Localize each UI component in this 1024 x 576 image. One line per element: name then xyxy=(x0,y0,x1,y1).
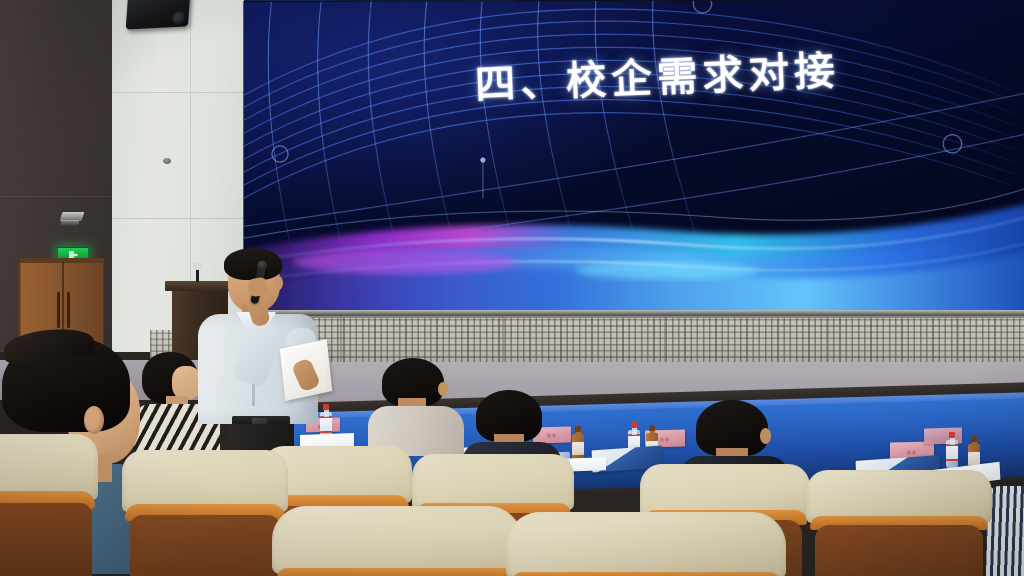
presenter xyxy=(196,252,322,442)
door-handle-right[interactable] xyxy=(67,292,70,328)
wall-sensor-icon xyxy=(163,158,171,164)
auditorium-seat[interactable] xyxy=(806,470,992,576)
auditorium-seat[interactable] xyxy=(122,450,288,576)
auditorium-seat[interactable] xyxy=(0,434,98,576)
wall-speaker-icon xyxy=(126,0,191,30)
water-bottle xyxy=(946,432,958,468)
conference-hall-photo: 四、校企需求对接 姓名 姓名 姓名 姓名 姓名 xyxy=(0,0,1024,576)
auditorium-seat[interactable] xyxy=(272,506,522,576)
auditorium-seat[interactable] xyxy=(506,512,786,576)
door-handle-left[interactable] xyxy=(57,292,60,328)
seated-panelist xyxy=(372,358,464,448)
presentation-screen: 四、校企需求对接 xyxy=(244,0,1024,316)
acoustic-panel-wall xyxy=(244,316,1024,364)
wall-light-icon xyxy=(60,212,85,221)
light-wave-ribbons-icon xyxy=(244,134,1024,316)
